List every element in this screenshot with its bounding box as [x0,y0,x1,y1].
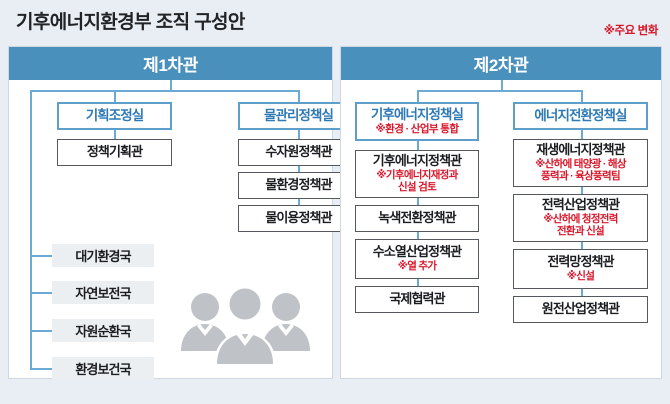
office-title: 기획조정실 [86,108,144,124]
unit-note: ※신설 [567,270,594,282]
connector [417,279,419,286]
connector [417,90,419,102]
bureau-label: 자원순환국 [75,321,130,340]
bureau-label: 환경보건국 [75,359,130,378]
unit-title: 원전산업정책관 [542,302,619,317]
panel-header-vice-minister-2: 제2차관 [341,47,661,80]
unit-title: 물이용정책관 [265,211,331,226]
unit-note: ※산하에 태양광 · 해상 풍력과 · 육상풍력팀 [535,158,626,183]
connector [114,90,116,102]
bureau-resource-circulation[interactable]: 자원순환국 [52,319,154,342]
unit-nuclear-industry-policy[interactable]: 원전산업정책관 [513,296,648,323]
office-planning-coordination[interactable]: 기획조정실 [57,102,172,130]
unit-power-grid-policy[interactable]: 전력망정책관 ※신설 [513,249,648,289]
unit-title: 수자원정책관 [265,145,331,160]
unit-title: 전력망정책관 [547,255,613,270]
panel-header-vice-minister-1: 제1차관 [9,47,332,80]
org-chart: 기후에너지환경부 조직 구성안 ※주요 변화 제1차관 기획조정실 정책기획관 … [0,0,670,404]
unit-renewable-energy-policy[interactable]: 재생에너지정책관 ※산하에 태양광 · 해상 풍력과 · 육상풍력팀 [513,139,648,187]
connector [581,90,583,102]
unit-policy-planning[interactable]: 정책기획관 [57,139,172,166]
office-energy-transition-policy[interactable]: 에너지전환정책실 [513,102,648,130]
connector [30,330,52,332]
connector [30,90,32,368]
office-title: 에너지전환정책실 [534,108,626,124]
unit-title: 재생에너지정책관 [536,143,624,158]
connector [417,198,419,205]
connector [170,80,172,90]
office-title: 물관리정책실 [264,108,333,124]
connector [298,90,300,102]
connector [417,141,419,150]
unit-title: 물환경정책관 [265,178,331,193]
connector [417,90,583,92]
office-title: 기후에너지정책실 [371,107,463,123]
unit-title: 기후에너지정책관 [373,154,461,169]
page-title: 기후에너지환경부 조직 구성안 [16,7,245,34]
connector [501,80,503,90]
people-group-icon [178,282,313,370]
unit-note: ※열 추가 [398,260,437,272]
unit-green-transition-policy[interactable]: 녹색전환정책관 [355,205,479,232]
unit-title: 녹색전환정책관 [378,211,455,226]
unit-title: 국제협력관 [389,292,444,307]
connector [30,90,300,92]
bureau-nature-conservation[interactable]: 자연보전국 [52,281,154,304]
unit-power-industry-policy[interactable]: 전력산업정책관 ※산하에 청정전력 전환과 신설 [513,194,648,242]
unit-title: 정책기획관 [87,145,142,160]
connector [581,130,583,139]
connector [581,242,583,249]
bureau-label: 대기환경국 [75,246,130,265]
connector [30,255,52,257]
connector [298,130,300,139]
unit-international-cooperation[interactable]: 국제협력관 [355,286,479,313]
bureau-label: 자연보전국 [75,283,130,302]
connector [30,292,52,294]
unit-title: 수소열산업정책관 [373,245,461,260]
connector [30,368,52,370]
connector [581,289,583,296]
connector [417,232,419,239]
legend-note: ※주요 변화 [604,22,658,38]
bureau-air-environment[interactable]: 대기환경국 [52,244,154,267]
unit-note: ※산하에 청정전력 전환과 신설 [543,213,617,238]
connector [114,130,116,139]
unit-title: 전력산업정책관 [542,198,619,213]
connector [581,187,583,194]
unit-hydrogen-heat-industry-policy[interactable]: 수소열산업정책관 ※열 추가 [355,239,479,279]
unit-climate-energy-policy[interactable]: 기후에너지정책관 ※기후에너지재정과 신설 검토 [355,150,479,198]
office-note: ※환경 · 산업부 통합 [376,123,459,136]
panel-vice-minister-2: 제2차관 기후에너지정책실 ※환경 · 산업부 통합 기후에너지정책관 ※기후에… [340,46,662,379]
unit-note: ※기후에너지재정과 신설 검토 [376,169,457,194]
bureau-environmental-health[interactable]: 환경보건국 [52,357,154,380]
office-climate-energy-policy[interactable]: 기후에너지정책실 ※환경 · 산업부 통합 [355,102,479,141]
